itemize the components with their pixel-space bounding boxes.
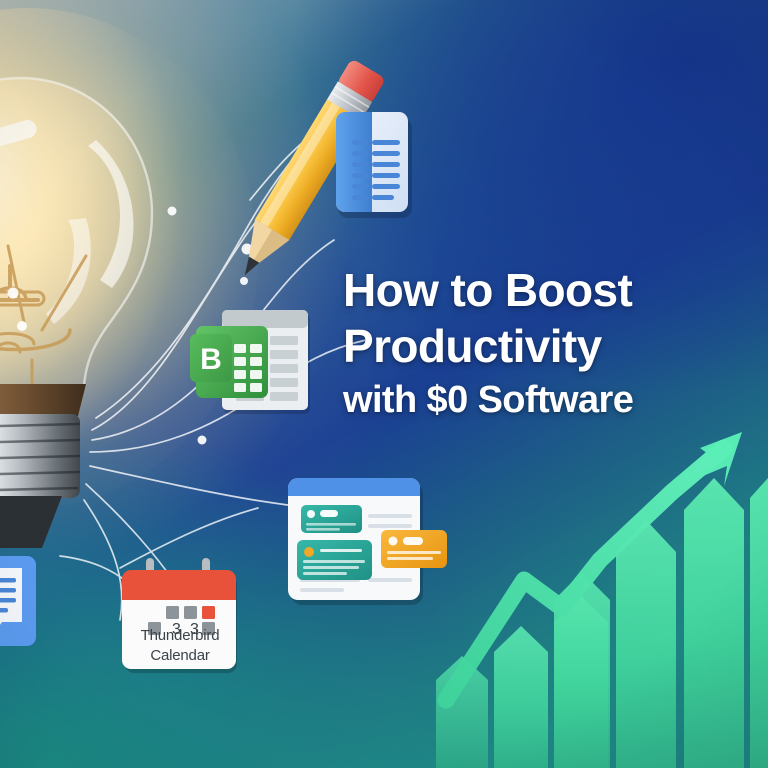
hero-graphic-canvas: B <box>0 0 768 768</box>
headline-line-3: with $0 Software <box>343 374 743 426</box>
headline: How to Boost Productivity with $0 Softwa… <box>343 262 743 426</box>
headline-line-1: How to Boost <box>343 262 743 318</box>
headline-line-2: Productivity <box>343 318 743 374</box>
